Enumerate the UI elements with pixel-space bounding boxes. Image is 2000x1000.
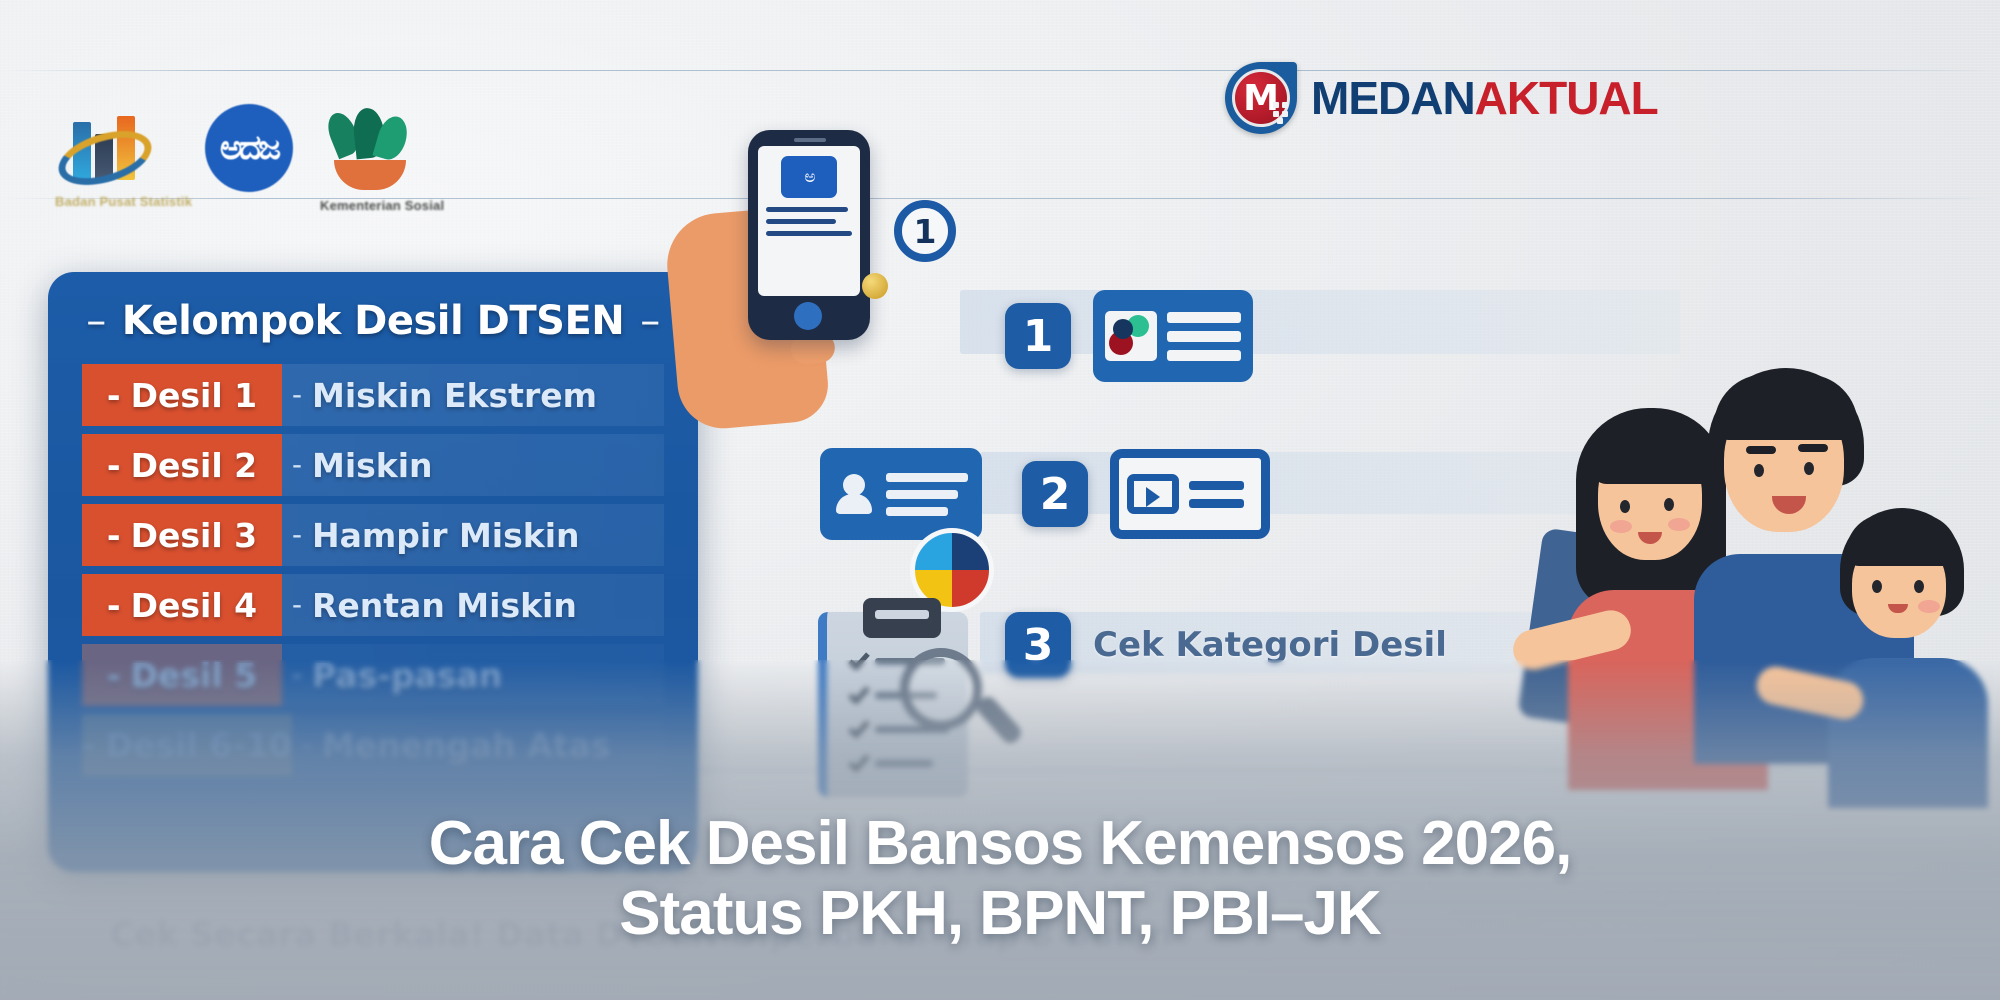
desil-category-label: Rentan Miskin [312, 574, 577, 636]
table-row: - Desil 2 - Miskin [82, 434, 664, 496]
title-dash-left: – [86, 298, 106, 344]
headline-line-1: Cara Cek Desil Bansos Kemensos 2026, [240, 809, 1760, 878]
row-separator: - [282, 504, 312, 566]
desil-panel-title-text: Kelompok Desil DTSEN [122, 298, 625, 344]
brand-name-secondary: AKTUAL [1475, 72, 1658, 124]
brand-name-primary: MEDAN [1311, 72, 1475, 124]
play-icon [1127, 474, 1179, 514]
kemensos-logo: Kementerian Sosial [320, 110, 444, 213]
desil-category-label: Miskin Ekstrem [312, 364, 597, 426]
headline-line-2: Status PKH, BPNT, PBI–JK [240, 879, 1760, 948]
brand-wordmark: MEDANAKTUAL [1311, 71, 1658, 125]
desil-tag-label: Desil 4 [131, 586, 258, 625]
card-text-lines [1167, 312, 1241, 361]
desil-tag: - Desil 2 [82, 434, 282, 496]
smartphone-icon: ಅ [748, 130, 870, 340]
thumbnail-canvas: Badan Pusat Statistik ಅದಜ Kementerian So… [0, 0, 2000, 1000]
kemensos-seal-logo: ಅದಜ [205, 104, 293, 192]
tag-dash-left: - [107, 516, 121, 555]
title-dash-right: – [640, 298, 660, 344]
desil-category-label: Miskin [312, 434, 433, 496]
step-badge-1: 1 [894, 200, 956, 262]
tag-dash-left: - [107, 446, 121, 485]
step-number-2: 2 [1022, 461, 1088, 527]
pie-thumbnail-icon [1105, 311, 1157, 361]
desil-category-label: Hampir Miskin [312, 504, 580, 566]
clipboard-clip-icon [863, 598, 941, 638]
kemensos-logo-mark [320, 110, 420, 192]
tag-dash-left: - [107, 586, 121, 625]
desil-tag: - Desil 4 [82, 574, 282, 636]
kemensos-seal-mark: ಅದಜ [205, 104, 293, 192]
step-label-3: Cek Kategori Desil [1093, 625, 1447, 665]
bps-logo: Badan Pusat Statistik [55, 110, 192, 209]
chart-card-icon [1093, 290, 1253, 382]
app-logo-icon: ಅ [781, 156, 837, 198]
kemensos-logo-caption: Kementerian Sosial [320, 198, 444, 213]
background-rule-top [0, 70, 2000, 71]
phone-screen: ಅ [758, 146, 860, 296]
desil-tag-label: Desil 2 [131, 446, 258, 485]
phone-in-hand-illustration: ಅ 1 [700, 155, 990, 415]
pixel-dots-icon [1273, 102, 1289, 124]
page-title: Cara Cek Desil Bansos Kemensos 2026, Sta… [0, 809, 2000, 948]
step-row-1: 1 [1005, 290, 1253, 382]
avatar [834, 472, 874, 516]
step-number-1: 1 [1005, 303, 1071, 369]
id-card-icon [820, 448, 982, 540]
table-row: - Desil 3 - Hampir Miskin [82, 504, 664, 566]
table-row: - Desil 4 - Rentan Miskin [82, 574, 664, 636]
medanaktual-mark-icon: M [1225, 62, 1297, 134]
bps-logo-caption: Badan Pusat Statistik [55, 194, 192, 209]
desil-tag: - Desil 3 [82, 504, 282, 566]
tag-dash-left: - [107, 376, 121, 415]
row-separator: - [282, 574, 312, 636]
desil-tag-label: Desil 3 [131, 516, 258, 555]
desil-panel-title: – Kelompok Desil DTSEN – [82, 298, 664, 344]
desil-tag-label: Desil 1 [131, 376, 258, 415]
media-card-icon [1110, 449, 1270, 539]
desil-tag: - Desil 1 [82, 364, 282, 426]
gold-badge-icon [862, 273, 888, 299]
agency-logo-row: Badan Pusat Statistik ಅದಜ Kementerian So… [55, 110, 475, 240]
row-separator: - [282, 364, 312, 426]
step-row-2: 2 [820, 448, 1270, 540]
site-logo[interactable]: M MEDANAKTUAL [1225, 62, 1658, 134]
bps-logo-mark [55, 110, 155, 188]
home-button-icon [794, 302, 822, 330]
row-separator: - [282, 434, 312, 496]
table-row: - Desil 1 - Miskin Ekstrem [82, 364, 664, 426]
card-text-lines [1189, 481, 1253, 508]
card-text-lines [886, 473, 968, 516]
